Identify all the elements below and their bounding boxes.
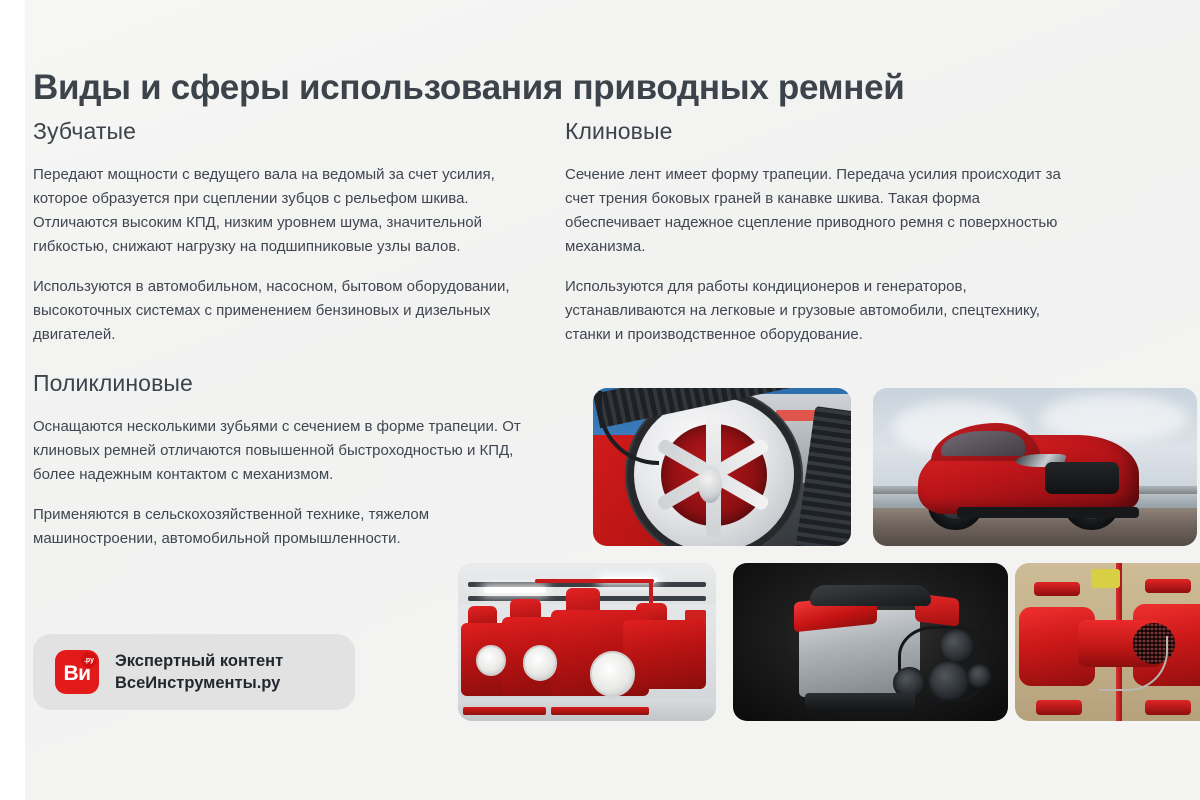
infographic-canvas: Виды и сферы использования приводных рем… bbox=[0, 0, 1200, 800]
pipe-flange bbox=[1145, 700, 1191, 714]
brand-badge-line1: Экспертный контент bbox=[115, 650, 283, 672]
logo-domain-bubble: .ру bbox=[80, 651, 98, 669]
pump-unit bbox=[623, 620, 706, 690]
pipe-flange bbox=[1036, 700, 1082, 714]
photo-pulley-belt bbox=[593, 388, 851, 546]
section-poliklinovye: Поликлиновые Оснащаются несколькими зубь… bbox=[33, 370, 533, 551]
pipe-flange bbox=[1145, 579, 1191, 593]
brand-badge-line2: ВсеИнструменты.ру bbox=[115, 672, 283, 694]
section-paragraph: Используются в автомобильном, насосном, … bbox=[33, 275, 533, 347]
brand-badge[interactable]: Ви .ру Экспертный контент ВсеИнструменты… bbox=[33, 634, 355, 710]
section-paragraph: Оснащаются несколькими зубьями с сечение… bbox=[33, 415, 533, 487]
section-heading-klinovye: Клиновые bbox=[565, 118, 1075, 145]
section-paragraph: Применяются в сельскохозяйственной техни… bbox=[33, 503, 533, 551]
pipe-flange bbox=[1034, 582, 1080, 596]
page-title: Виды и сферы использования приводных рем… bbox=[33, 68, 905, 108]
pulley-hub bbox=[698, 466, 722, 503]
engine-pulley bbox=[928, 661, 969, 702]
brand-badge-text: Экспертный контент ВсеИнструменты.ру bbox=[115, 650, 283, 694]
section-klinovye: Клиновые Сечение лент имеет форму трапец… bbox=[565, 118, 1075, 347]
pressure-gauge bbox=[523, 645, 558, 681]
section-paragraph: Передают мощности с ведущего вала на вед… bbox=[33, 163, 533, 259]
infographic-board: Виды и сферы использования приводных рем… bbox=[25, 0, 1200, 800]
section-paragraph: Сечение лент имеет форму трапеции. Перед… bbox=[565, 163, 1075, 259]
engine-pulley bbox=[939, 629, 975, 664]
red-pipe bbox=[535, 579, 654, 583]
section-zubchatye: Зубчатые Передают мощности с ведущего ва… bbox=[33, 118, 533, 347]
oil-pan bbox=[805, 693, 915, 712]
section-heading-zubchatye: Зубчатые bbox=[33, 118, 533, 145]
vseinstrumenty-logo-icon: Ви .ру bbox=[55, 650, 99, 694]
pressure-gauge bbox=[590, 651, 635, 696]
section-heading-poliklinovye: Поликлиновые bbox=[33, 370, 533, 397]
pump-base bbox=[463, 707, 546, 715]
intake-manifold bbox=[810, 585, 931, 606]
car-grille bbox=[1045, 462, 1120, 494]
pressure-gauge bbox=[476, 645, 506, 676]
engine-pulley bbox=[967, 664, 992, 689]
photo-sports-car bbox=[873, 388, 1197, 546]
wall-valve-box bbox=[1091, 569, 1120, 588]
car-front-splitter bbox=[957, 507, 1138, 518]
ceiling-lamp bbox=[484, 587, 546, 593]
pump-base bbox=[551, 707, 649, 715]
photo-pump-station bbox=[458, 563, 716, 721]
photo-pump-motors bbox=[1015, 563, 1200, 721]
photo-v8-engine bbox=[733, 563, 1008, 721]
section-paragraph: Используются для работы кондиционеров и … bbox=[565, 275, 1075, 347]
